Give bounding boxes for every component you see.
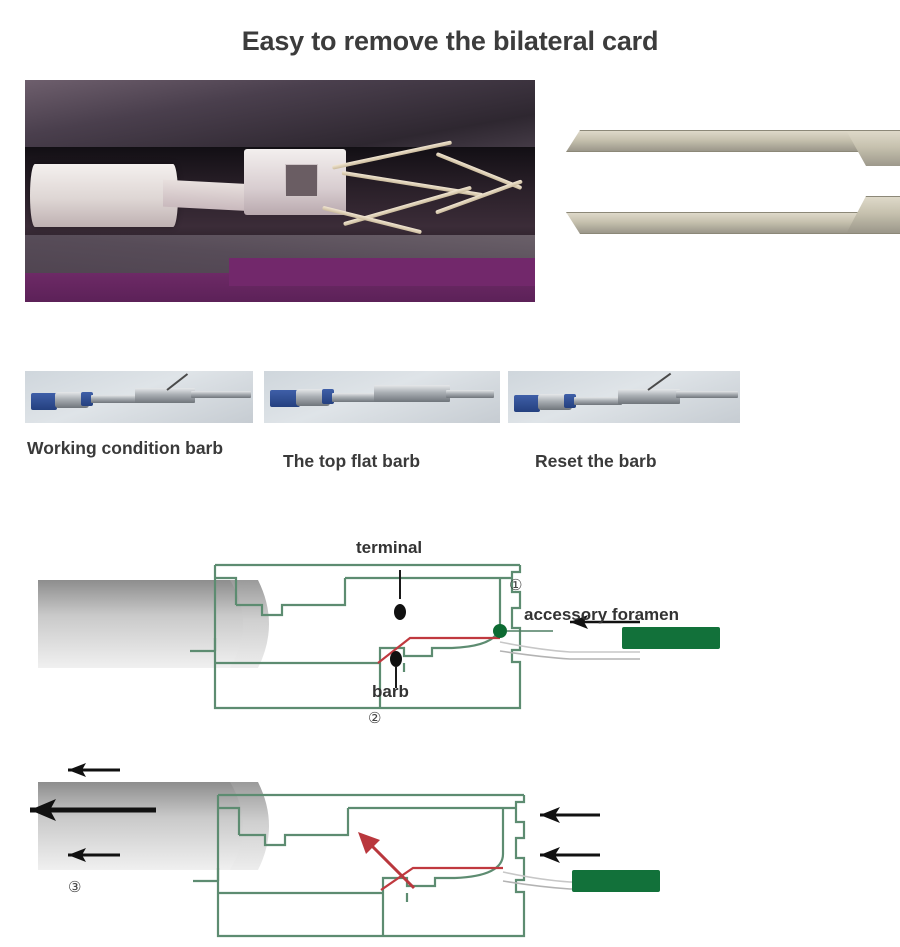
terminal-shank: [332, 393, 378, 402]
thumbnail-label-top-flat-barb: The top flat barb: [283, 450, 513, 472]
terminal-shank: [91, 395, 139, 403]
terminal-blue-boot: [514, 395, 540, 412]
terminal-body: [618, 389, 680, 404]
connector-removal-photo: [25, 80, 535, 302]
step-marker-3: ③: [68, 878, 81, 896]
insertion-diagram: [0, 520, 900, 740]
terminal-pin: [676, 391, 738, 398]
terminal-slot: [285, 164, 318, 197]
page-root: Easy to remove the bilateral card: [0, 0, 900, 947]
step-marker-1: ①: [509, 576, 522, 594]
terminal-shank: [574, 397, 622, 405]
diagram-label-barb: barb: [372, 682, 409, 702]
thumbnail-top-flat-barb: [264, 371, 500, 423]
thumbnail-reset-barb: [508, 371, 740, 423]
step-marker-2: ②: [368, 709, 381, 727]
thumbnail-working-condition-barb: [25, 371, 253, 423]
white-terminal-neck: [163, 180, 255, 211]
terminal-body: [135, 388, 195, 403]
terminal-pin: [446, 390, 494, 398]
thumbnail-label-working-condition-barb: Working condition barb: [27, 437, 242, 459]
terminal-pin: [191, 391, 251, 398]
housing-purple-step: [229, 258, 535, 287]
extraction-tool-photo: [530, 108, 900, 253]
diagram-label-terminal: terminal: [356, 538, 422, 558]
extraction-diagram: [0, 740, 900, 947]
white-terminal-body: [30, 164, 178, 226]
terminal-blue-boot: [31, 393, 57, 410]
diagram-label-accessory-foramen: accessory foramen: [524, 605, 679, 625]
terminal-body-flat: [374, 385, 450, 402]
thumbnail-label-reset-barb: Reset the barb: [535, 450, 765, 472]
page-title: Easy to remove the bilateral card: [0, 26, 900, 57]
